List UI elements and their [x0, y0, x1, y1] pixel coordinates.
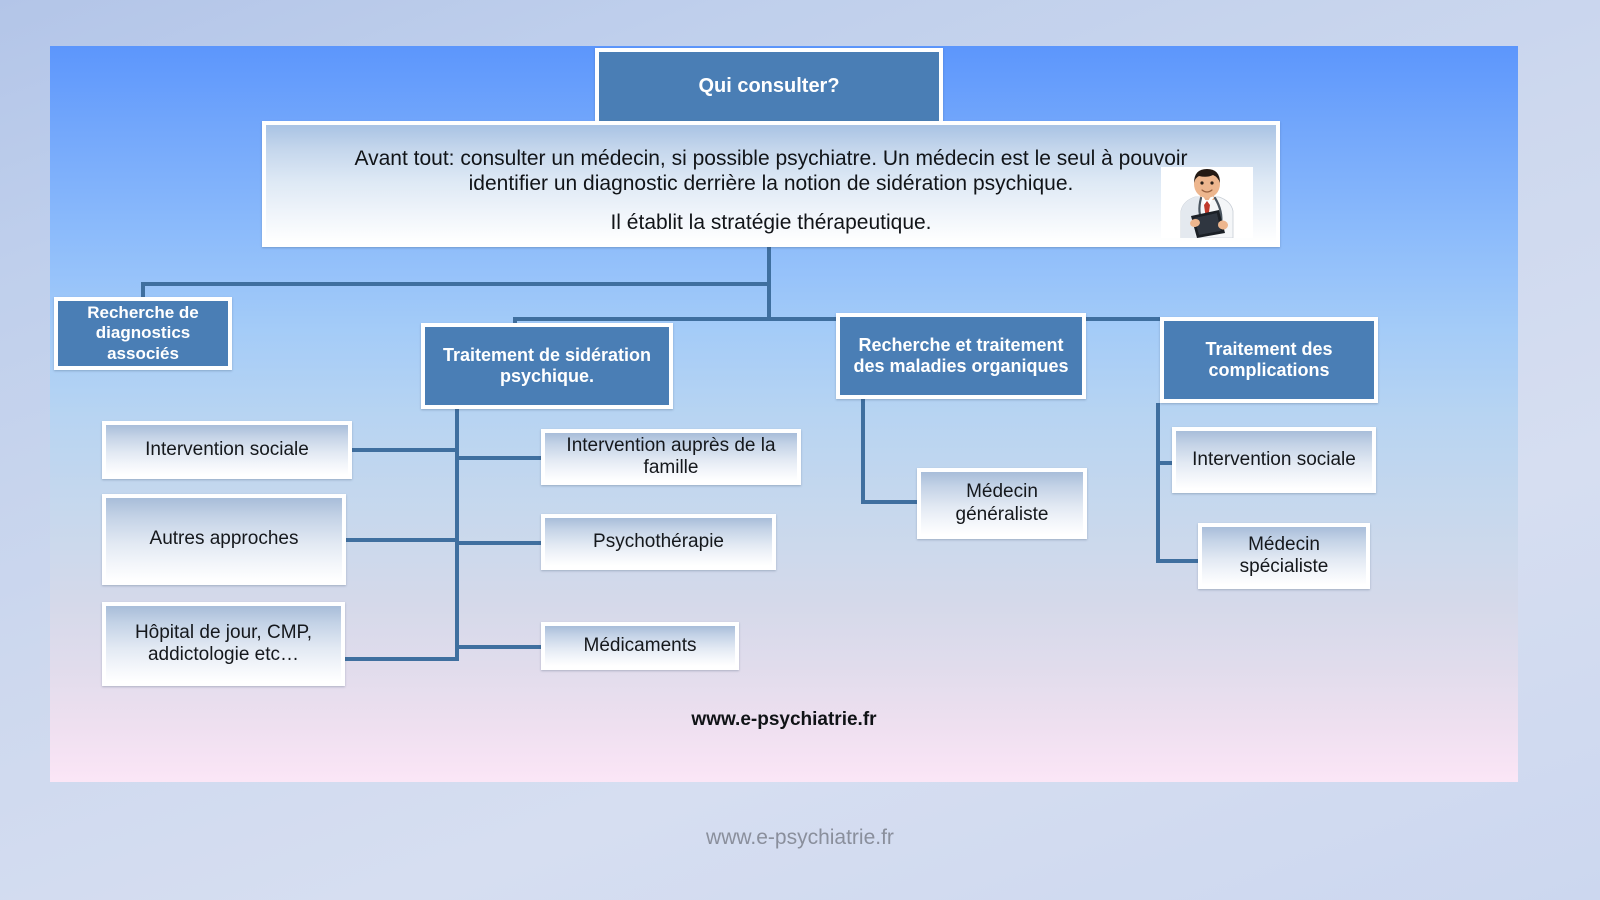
node-medecin-generaliste[interactable]: Médecin généraliste: [917, 468, 1087, 539]
slide-site-url: www.e-psychiatrie.fr: [50, 709, 1518, 731]
connector-to-medecin-specialiste: [1156, 559, 1200, 563]
node-medecin-specialiste-label: Médecin spécialiste: [1202, 534, 1366, 579]
node-recherche-maladies-organiques[interactable]: Recherche et traitement des maladies org…: [836, 313, 1086, 399]
intro-line-3: Il établit la stratégie thérapeutique.: [292, 211, 1250, 236]
node-intervention-sociale-1[interactable]: Intervention sociale: [102, 421, 352, 479]
node-intervention-famille[interactable]: Intervention auprès de la famille: [541, 429, 801, 485]
node-psychotherapie-label: Psychothérapie: [587, 531, 730, 553]
node-qui-consulter-label: Qui consulter?: [692, 75, 845, 99]
node-traitement-complications[interactable]: Traitement des complications: [1160, 317, 1378, 403]
connector-to-hopital: [343, 657, 457, 661]
node-hopital-de-jour[interactable]: Hôpital de jour, CMP, addictologie etc…: [102, 602, 345, 686]
node-intervention-sociale-2-label: Intervention sociale: [1186, 449, 1362, 471]
node-recherche-maladies-organiques-label: Recherche et traitement des maladies org…: [840, 335, 1082, 377]
node-medicaments[interactable]: Médicaments: [541, 622, 739, 670]
connector-organiques-trunk: [861, 399, 865, 504]
node-autres-approches-label: Autres approches: [144, 528, 305, 550]
node-psychotherapie[interactable]: Psychothérapie: [541, 514, 776, 570]
connector-to-medecin-generaliste: [861, 500, 919, 504]
node-traitement-complications-label: Traitement des complications: [1164, 339, 1374, 381]
node-intervention-famille-label: Intervention auprès de la famille: [545, 435, 797, 480]
page-footer-url: www.e-psychiatrie.fr: [0, 826, 1600, 850]
connector-to-medicaments: [455, 645, 543, 649]
connector-to-autres-approches: [344, 538, 457, 542]
node-medecin-specialiste[interactable]: Médecin spécialiste: [1198, 523, 1370, 589]
node-intervention-sociale-2[interactable]: Intervention sociale: [1172, 427, 1376, 493]
connector-to-intervention-famille: [455, 456, 543, 460]
node-hopital-de-jour-label: Hôpital de jour, CMP, addictologie etc…: [106, 622, 341, 667]
intro-line-1: Avant tout: consulter un médecin, si pos…: [292, 147, 1250, 172]
node-recherche-diagnostics[interactable]: Recherche de diagnostics associés: [54, 297, 232, 370]
node-intro-text[interactable]: Avant tout: consulter un médecin, si pos…: [262, 121, 1280, 247]
node-recherche-diagnostics-label: Recherche de diagnostics associés: [58, 303, 228, 363]
connector-traitement-trunk: [455, 409, 459, 661]
intro-line-2: identifier un diagnostic derrière la not…: [292, 172, 1250, 197]
connector-to-recherche-diagnostics-h: [141, 282, 771, 286]
node-qui-consulter[interactable]: Qui consulter?: [595, 48, 943, 125]
node-autres-approches[interactable]: Autres approches: [102, 494, 346, 585]
screenshot-root: Qui consulter? Avant tout: consulter un …: [0, 0, 1600, 900]
node-traitement-sideration[interactable]: Traitement de sidération psychique.: [421, 323, 673, 409]
node-medecin-generaliste-label: Médecin généraliste: [921, 481, 1083, 526]
node-intervention-sociale-1-label: Intervention sociale: [139, 439, 315, 461]
doctor-illustration-icon: [1161, 167, 1253, 238]
connector-to-psychotherapie: [455, 541, 543, 545]
node-medicaments-label: Médicaments: [578, 635, 703, 657]
connector-to-intervention-sociale-1: [350, 448, 457, 452]
connector-complications-trunk: [1156, 403, 1160, 563]
slide-canvas: Qui consulter? Avant tout: consulter un …: [50, 46, 1518, 782]
node-traitement-sideration-label: Traitement de sidération psychique.: [425, 345, 669, 387]
